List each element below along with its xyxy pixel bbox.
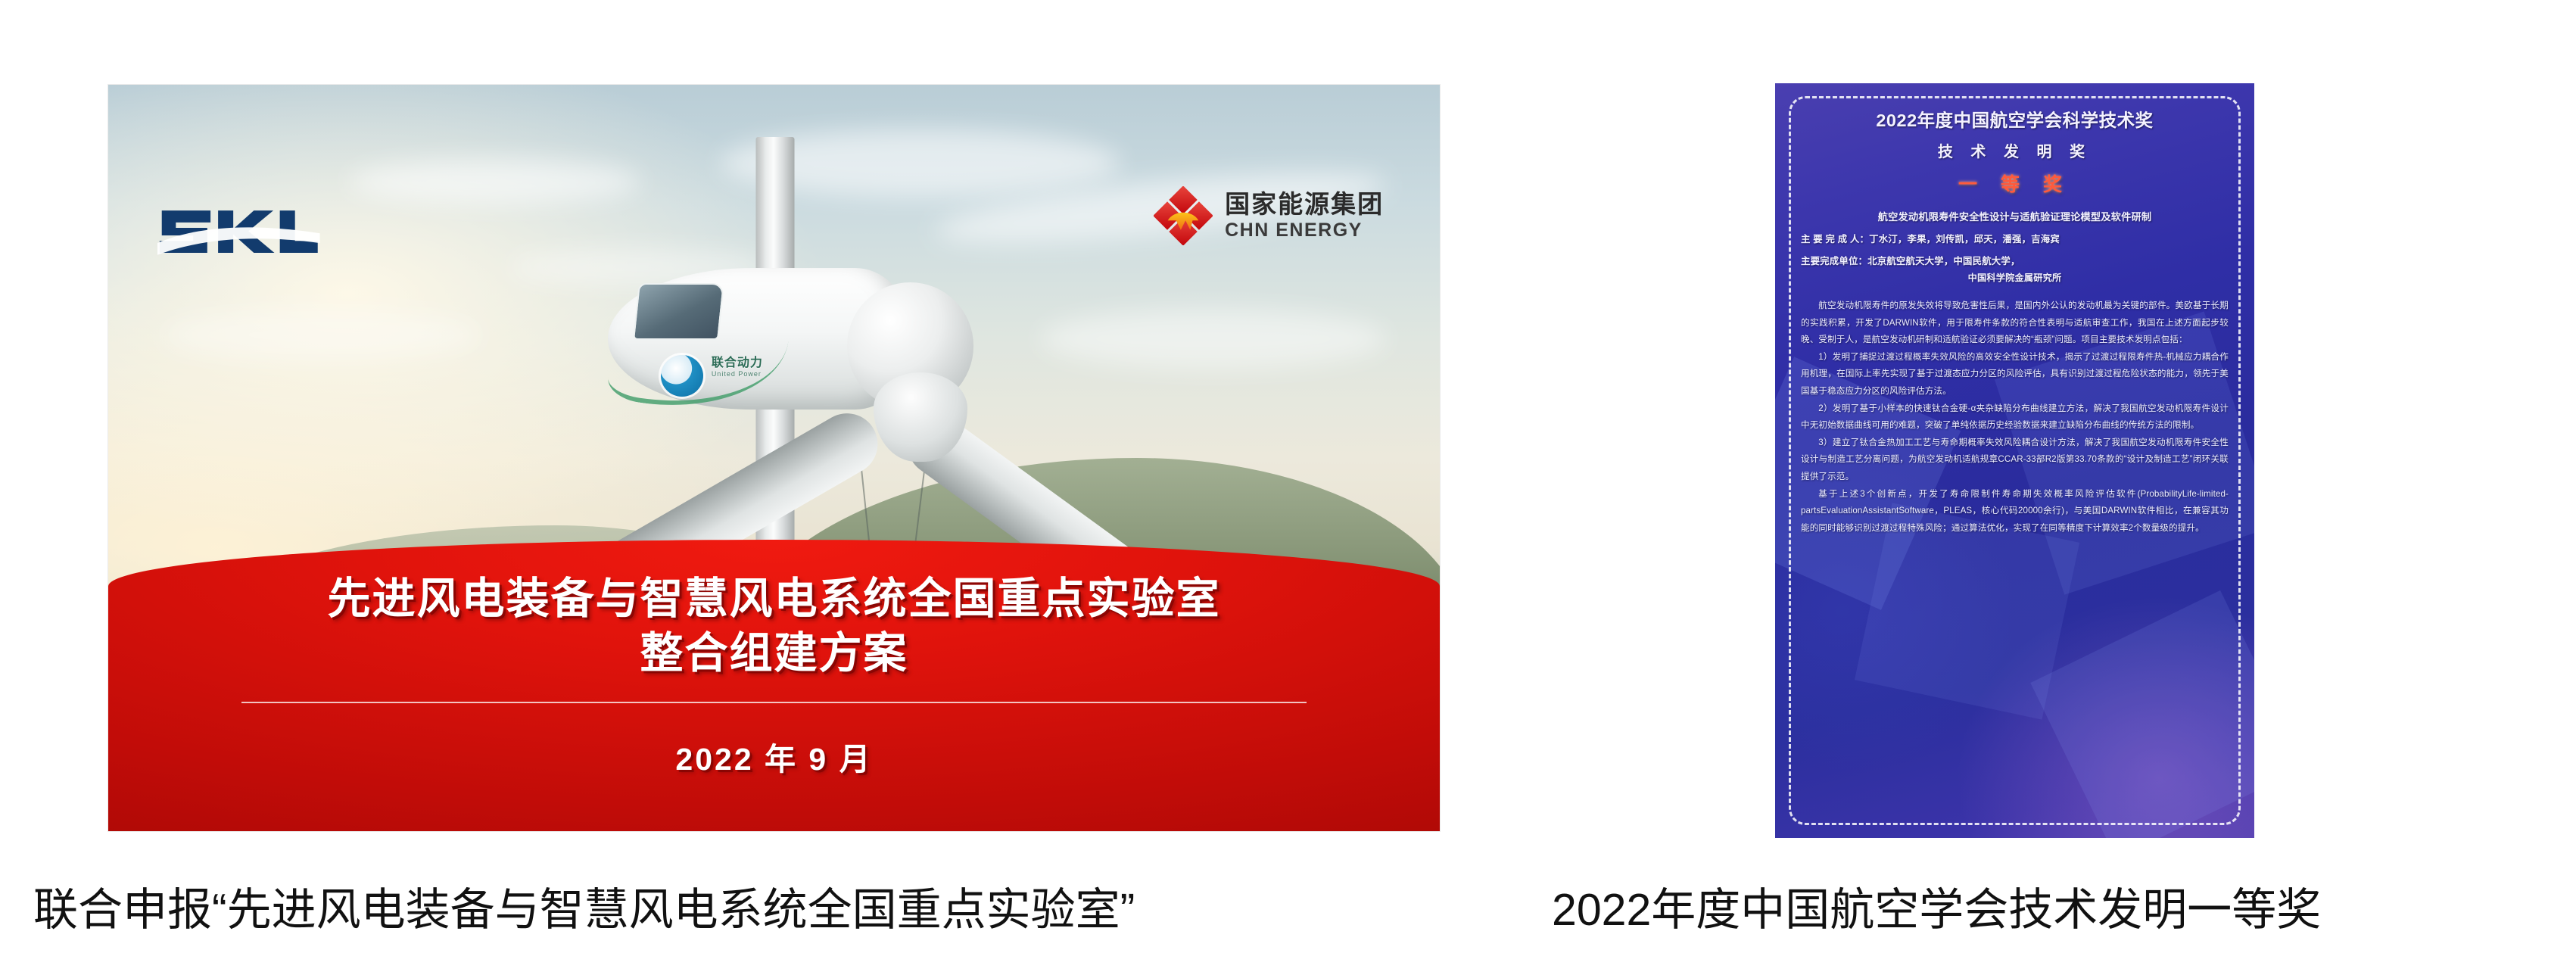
certificate-contributors: 主 要 完 成 人：丁水汀，李果，刘传凯，邱天，潘强，吉海宾 [1801, 232, 2229, 245]
chn-energy-name-en: CHN ENERGY [1225, 220, 1384, 241]
certificate-description: 航空发动机限寿件的原发失效将导致危害性后果，是国内外公认的发动机最为关键的部件。… [1801, 297, 2229, 537]
cloud [1040, 309, 1386, 369]
caption-right: 2022年度中国航空学会技术发明一等奖 [1552, 874, 2321, 938]
cloud [348, 160, 641, 204]
banner-title-line2: 整合组建方案 [640, 627, 908, 681]
certificate-paragraph: 2）发明了基于小样本的快速钛合金硬-α夹杂缺陷分布曲线建立方法，解决了我国航空发… [1801, 400, 2229, 434]
certificate-paragraph: 3）建立了钛合金热加工工艺与寿命期概率失效风险耦合设计方法，解决了我国航空发动机… [1801, 434, 2229, 486]
banner-date: 2022 年 9 月 [675, 733, 872, 779]
certificate-heading-award: 2022年度中国航空学会科学技术奖 [1801, 106, 2229, 132]
chn-energy-mark-icon [1154, 186, 1213, 245]
certificate-institutions: 主要完成单位：北京航空航天大学，中国民航大学， [1801, 254, 2229, 267]
certificate-paragraph: 基于上述3个创新点，开发了寿命限制件寿命期失效概率风险评估软件(Probabil… [1801, 486, 2229, 537]
nacelle-brand-en: United Power [712, 370, 763, 378]
award-certificate-image: 2022年度中国航空学会科学技术奖 技 术 发 明 奖 一 等 奖 航空发动机限… [1775, 83, 2254, 838]
banner-title-line1: 先进风电装备与智慧风电系统全国重点实验室 [328, 572, 1221, 627]
certificate-paragraph: 1）发明了捕捉过渡过程概率失效风险的高效安全性设计技术，揭示了过渡过程限寿件热-… [1801, 349, 2229, 400]
certificate-project-title: 航空发动机限寿件安全性设计与适航验证理论模型及软件研制 [1801, 209, 2229, 223]
skl-logo-icon [157, 193, 320, 272]
cloud [161, 309, 481, 361]
nacelle-brand-cn: 联合动力 [712, 357, 763, 369]
wind-lab-slide-image: 联合动力 United Power [108, 85, 1440, 831]
united-power-logo-icon [661, 355, 703, 397]
chn-energy-logo: 国家能源集团 CHN ENERGY [1154, 186, 1384, 245]
red-title-banner: 先进风电装备与智慧风电系统全国重点实验室 整合组建方案 2022 年 9 月 [108, 540, 1440, 831]
chn-energy-name-cn: 国家能源集团 [1225, 191, 1384, 218]
caption-left: 联合申报“先进风电装备与智慧风电系统全国重点实验室” [33, 874, 1135, 938]
certificate-paragraph: 航空发动机限寿件的原发失效将导致危害性后果，是国内外公认的发动机最为关键的部件。… [1801, 297, 2229, 349]
banner-divider [241, 702, 1307, 703]
skl-logo [157, 193, 320, 272]
certificate-heading-category: 技 术 发 明 奖 [1801, 139, 2229, 161]
certificate-institutions-cont: 中国科学院金属研究所 [1801, 270, 2229, 284]
certificate-grade: 一 等 奖 [1801, 170, 2229, 197]
nacelle-brand-text: 联合动力 United Power [712, 357, 763, 378]
